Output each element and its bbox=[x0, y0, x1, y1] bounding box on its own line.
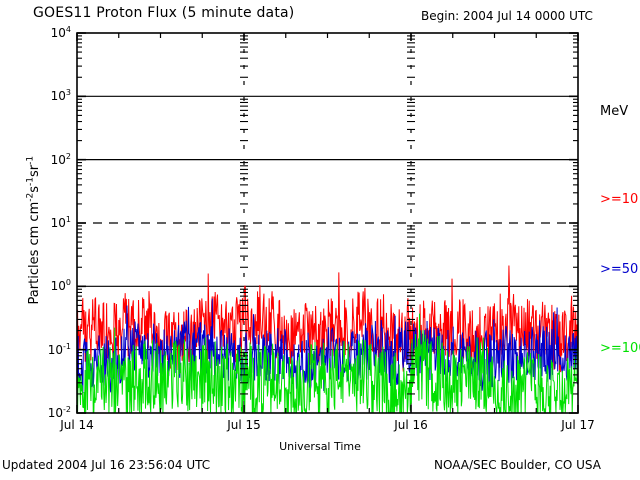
legend-label-p10: >=10 bbox=[600, 192, 638, 207]
y-tick-label: 10-1 bbox=[33, 342, 71, 357]
updated-timestamp: Updated 2004 Jul 16 23:56:04 UTC bbox=[2, 458, 210, 472]
x-tick-label: Jul 15 bbox=[220, 418, 268, 432]
legend-unit-label: MeV bbox=[600, 104, 628, 119]
legend-item-p50: >=50 bbox=[600, 258, 638, 277]
y-tick-label: 104 bbox=[33, 25, 71, 40]
legend-unit-mev: MeV bbox=[600, 100, 628, 119]
x-tick-label: Jul 17 bbox=[554, 418, 602, 432]
x-tick-label: Jul 14 bbox=[53, 418, 101, 432]
source-attribution: NOAA/SEC Boulder, CO USA bbox=[434, 458, 601, 472]
legend-label-p50: >=50 bbox=[600, 262, 638, 277]
y-tick-label: 102 bbox=[33, 152, 71, 167]
x-tick-label: Jul 16 bbox=[387, 418, 435, 432]
y-tick-label: 100 bbox=[33, 278, 71, 293]
legend-label-p100: >=100 bbox=[600, 341, 640, 356]
legend-item-p10: >=10 bbox=[600, 188, 638, 207]
y-tick-label: 103 bbox=[33, 88, 71, 103]
legend-item-p100: >=100 bbox=[600, 337, 640, 356]
plot-canvas bbox=[0, 0, 640, 480]
proton-flux-plot-page: GOES11 Proton Flux (5 minute data) Begin… bbox=[0, 0, 640, 480]
y-tick-label: 101 bbox=[33, 215, 71, 230]
